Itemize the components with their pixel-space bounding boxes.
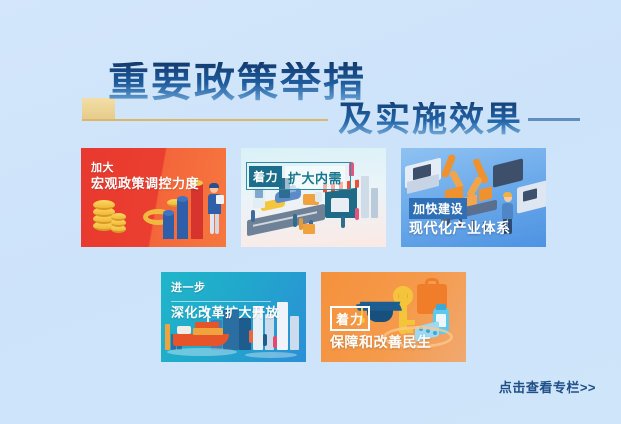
page-title-line-2: 及实施效果 — [338, 102, 523, 137]
gold-underline-rule — [82, 119, 328, 121]
card-livelihood-badge: 着力 — [330, 306, 370, 331]
blue-accent-rule — [528, 118, 580, 121]
card-row-top: 加大 宏观政策调控力度 — [81, 148, 546, 247]
card-reform-opening-badge: 进一步 — [171, 282, 206, 296]
card-macro-policy-badge: 加大 — [91, 162, 199, 176]
card-livelihood-headline: 保障和改善民生 — [330, 332, 432, 352]
card-reform-opening-divider — [171, 301, 271, 302]
title-block: 重要政策举措 及实施效果 — [0, 28, 621, 128]
card-macro-policy-headline: 宏观政策调控力度 — [91, 176, 199, 192]
card-modern-industry-headline: 现代化产业体系 — [409, 218, 511, 238]
card-domestic-demand[interactable]: 着力 扩大内需 — [241, 148, 386, 247]
card-livelihood[interactable]: 着力 保障和改善民生 — [321, 272, 466, 362]
poster-canvas: 重要政策举措 及实施效果 — [0, 0, 621, 424]
card-domestic-demand-badge: 着力 — [249, 166, 282, 187]
card-macro-policy[interactable]: 加大 宏观政策调控力度 — [81, 148, 226, 247]
card-reform-opening[interactable]: 进一步 深化改革扩大开放 — [161, 272, 306, 362]
card-modern-industry[interactable]: 加快建设 现代化产业体系 — [401, 148, 546, 247]
card-domestic-demand-headline: 扩大内需 — [285, 166, 345, 189]
card-reform-opening-headline: 深化改革扩大开放 — [171, 305, 279, 321]
view-column-link[interactable]: 点击查看专栏>> — [499, 377, 596, 396]
card-row-bottom: 进一步 深化改革扩大开放 — [161, 272, 466, 362]
card-macro-policy-text: 加大 宏观政策调控力度 — [91, 162, 199, 192]
page-title-line-1: 重要政策举措 — [108, 62, 366, 103]
card-modern-industry-badge: 加快建设 — [409, 198, 467, 219]
card-reform-opening-text: 进一步 — [171, 282, 206, 296]
